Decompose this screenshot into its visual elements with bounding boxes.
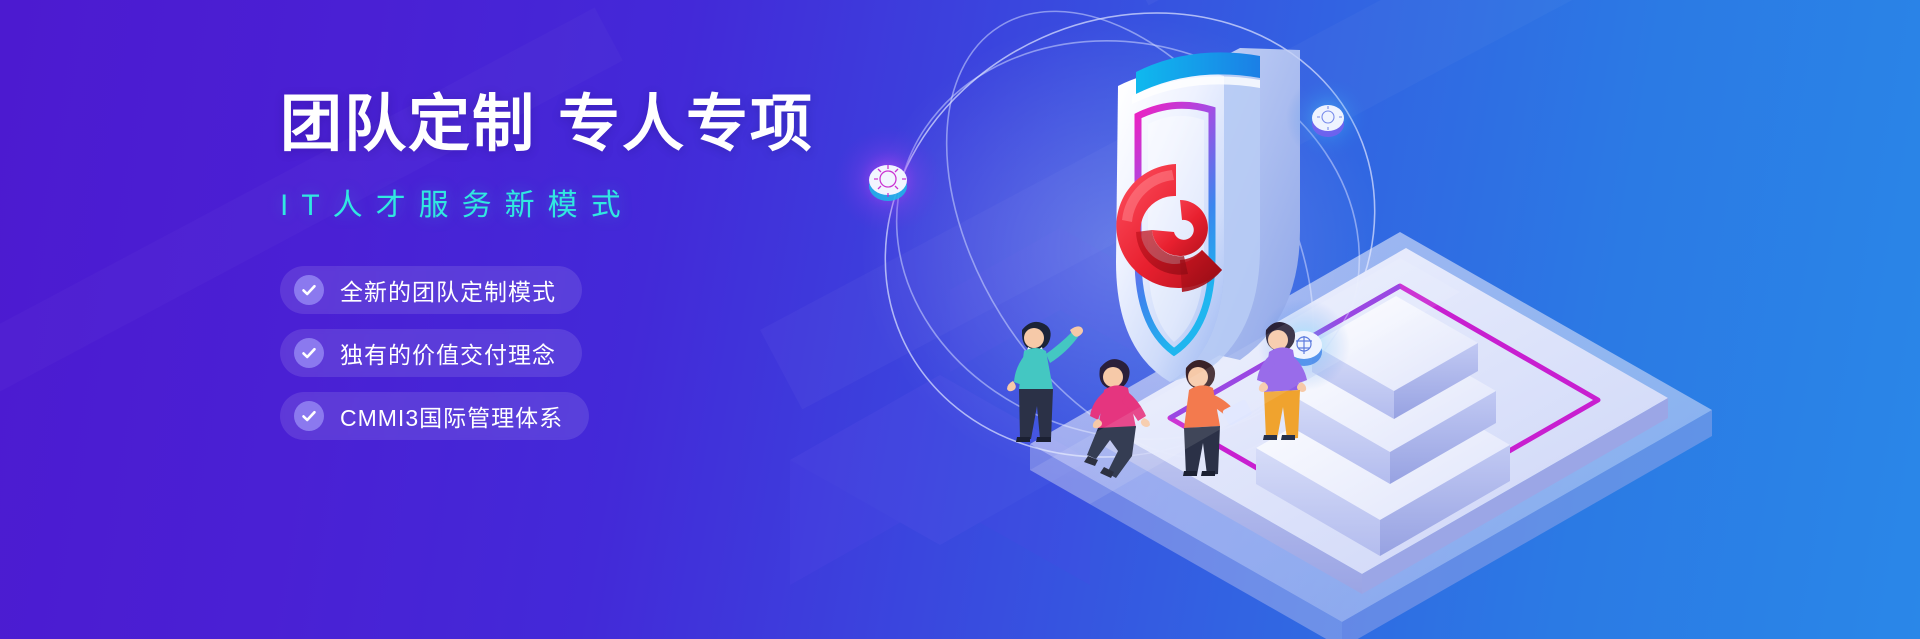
feature-list: 全新的团队定制模式 独有的价值交付理念 CMMI3国际管理体系 bbox=[280, 266, 920, 440]
feature-pill-1-label: 全新的团队定制模式 bbox=[340, 273, 556, 307]
check-icon bbox=[294, 338, 324, 368]
promo-banner: 团队定制专人专项 IT人才服务新模式 全新的团队定制模式 独有的价值交付理念 bbox=[0, 0, 1920, 639]
feature-pill-3[interactable]: CMMI3国际管理体系 bbox=[280, 392, 589, 440]
page-subtitle: IT人才服务新模式 bbox=[280, 180, 920, 224]
feature-pill-2[interactable]: 独有的价值交付理念 bbox=[280, 329, 582, 377]
headline-part-1: 团队定制 bbox=[280, 90, 536, 159]
feature-pill-2-label: 独有的价值交付理念 bbox=[340, 336, 556, 370]
glow-sphere-top-right bbox=[1286, 76, 1370, 160]
feature-pill-1[interactable]: 全新的团队定制模式 bbox=[280, 266, 582, 314]
check-icon bbox=[294, 401, 324, 431]
feature-pill-3-label: CMMI3国际管理体系 bbox=[340, 399, 563, 433]
copy-block: 团队定制专人专项 IT人才服务新模式 全新的团队定制模式 独有的价值交付理念 bbox=[280, 92, 920, 440]
check-icon bbox=[294, 275, 324, 305]
page-title: 团队定制专人专项 bbox=[280, 92, 920, 158]
headline-part-2: 专人专项 bbox=[558, 90, 814, 159]
